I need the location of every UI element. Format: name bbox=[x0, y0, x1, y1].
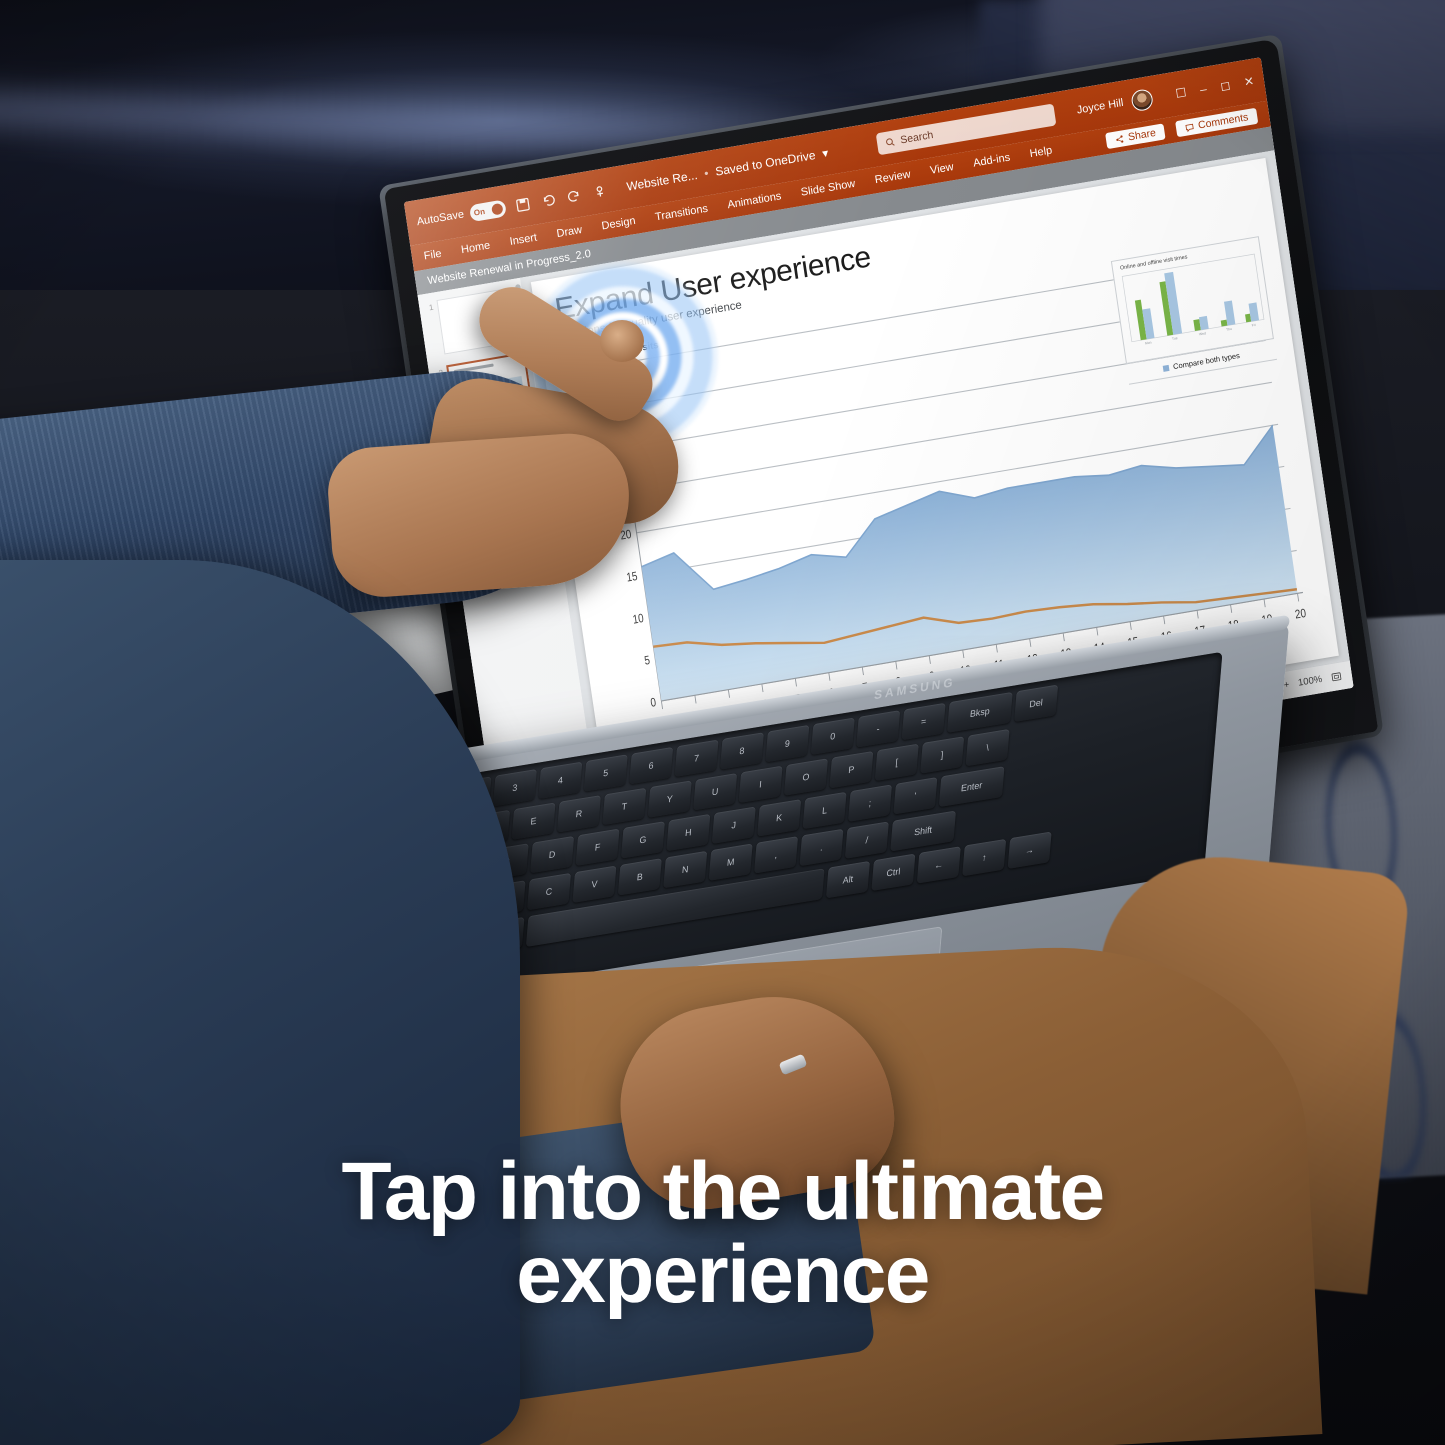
comments-label: Comments bbox=[1197, 111, 1249, 131]
comment-icon bbox=[1185, 122, 1195, 132]
key-shift-right[interactable]: Shift bbox=[890, 810, 956, 851]
key[interactable]: V bbox=[572, 865, 616, 903]
toggle-knob bbox=[491, 202, 503, 215]
legend-swatch bbox=[1163, 364, 1170, 371]
headline-line-1: Tap into the ultimate bbox=[341, 1146, 1103, 1237]
minimize-icon[interactable]: – bbox=[1199, 82, 1208, 97]
user-name: Joyce Hill bbox=[1076, 97, 1124, 117]
key[interactable]: U bbox=[693, 773, 737, 811]
key[interactable]: ] bbox=[920, 736, 964, 774]
present-icon[interactable] bbox=[591, 183, 608, 200]
undo-icon[interactable] bbox=[540, 191, 557, 208]
key[interactable]: . bbox=[799, 829, 843, 867]
key[interactable]: 5 bbox=[584, 754, 628, 792]
autosave-state: On bbox=[473, 206, 486, 217]
key[interactable]: Y bbox=[648, 780, 692, 818]
tab-file[interactable]: File bbox=[423, 248, 442, 263]
share-label: Share bbox=[1127, 127, 1156, 144]
key[interactable]: D bbox=[530, 836, 574, 874]
user-account[interactable]: Joyce Hill bbox=[1075, 88, 1153, 121]
key[interactable]: R bbox=[557, 795, 601, 833]
key-del[interactable]: Del bbox=[1014, 685, 1058, 723]
quick-access-toolbar[interactable] bbox=[514, 183, 608, 213]
key[interactable]: , bbox=[754, 836, 798, 874]
key[interactable]: H bbox=[666, 814, 710, 852]
key[interactable]: K bbox=[757, 799, 801, 837]
fingertip bbox=[600, 320, 644, 362]
autosave-label: AutoSave bbox=[416, 208, 465, 228]
key[interactable]: - bbox=[856, 710, 900, 748]
fit-to-window-icon[interactable] bbox=[1330, 670, 1342, 683]
title-separator: • bbox=[703, 166, 709, 181]
document-name: Website Re... bbox=[626, 168, 699, 194]
save-icon[interactable] bbox=[514, 196, 531, 213]
key[interactable]: \ bbox=[966, 729, 1010, 767]
key[interactable]: J bbox=[712, 806, 756, 844]
zoom-level: 100% bbox=[1297, 674, 1323, 689]
tab-home[interactable]: Home bbox=[460, 239, 491, 256]
key[interactable]: 6 bbox=[629, 747, 673, 785]
svg-text:0: 0 bbox=[650, 696, 657, 710]
key-arrow-updown[interactable]: ↑ bbox=[962, 839, 1006, 877]
key[interactable]: P bbox=[829, 751, 873, 789]
svg-text:20: 20 bbox=[1294, 607, 1307, 622]
key-arrow-left[interactable]: ← bbox=[917, 846, 961, 884]
key[interactable]: 4 bbox=[538, 762, 582, 800]
tab-insert[interactable]: Insert bbox=[509, 232, 538, 248]
avatar[interactable] bbox=[1130, 88, 1154, 112]
key[interactable]: ; bbox=[848, 784, 892, 822]
key[interactable]: N bbox=[663, 851, 707, 889]
key[interactable]: I bbox=[739, 766, 783, 804]
key[interactable]: M bbox=[709, 843, 753, 881]
maximize-icon[interactable]: ◻ bbox=[1219, 78, 1231, 94]
close-icon[interactable]: ✕ bbox=[1243, 74, 1255, 90]
key[interactable]: C bbox=[527, 873, 571, 911]
chevron-down-icon[interactable]: ▾ bbox=[821, 146, 829, 161]
key[interactable]: 8 bbox=[720, 732, 764, 770]
key[interactable]: O bbox=[784, 758, 828, 796]
svg-text:Tue: Tue bbox=[1172, 336, 1178, 341]
window-controls[interactable]: ☐ – ◻ ✕ bbox=[1175, 74, 1255, 101]
key[interactable]: L bbox=[803, 792, 847, 830]
tab-animations[interactable]: Animations bbox=[727, 190, 782, 211]
key[interactable]: G bbox=[621, 821, 665, 859]
key-ctrl-right[interactable]: Ctrl bbox=[871, 854, 915, 892]
autosave-control[interactable]: AutoSave On bbox=[416, 199, 507, 231]
svg-text:10: 10 bbox=[632, 612, 645, 627]
key[interactable]: E bbox=[511, 802, 555, 840]
key[interactable]: / bbox=[845, 821, 889, 859]
key[interactable]: = bbox=[902, 703, 946, 741]
save-status: Saved to OneDrive bbox=[714, 148, 816, 179]
redo-icon[interactable] bbox=[565, 187, 582, 204]
tab-design[interactable]: Design bbox=[601, 215, 637, 233]
svg-text:Mon: Mon bbox=[1145, 340, 1152, 345]
key-backspace[interactable]: Bksp bbox=[947, 692, 1013, 733]
key[interactable]: 0 bbox=[811, 717, 855, 755]
key[interactable]: T bbox=[602, 788, 646, 826]
svg-text:Wed: Wed bbox=[1199, 331, 1207, 336]
svg-text:15: 15 bbox=[626, 570, 639, 585]
tab-help[interactable]: Help bbox=[1029, 144, 1053, 160]
key[interactable]: B bbox=[618, 858, 662, 896]
key-arrow-right[interactable]: → bbox=[1008, 831, 1052, 869]
autosave-toggle[interactable]: On bbox=[469, 199, 507, 222]
svg-text:Fri: Fri bbox=[1251, 323, 1256, 328]
key[interactable]: 9 bbox=[765, 725, 809, 763]
key[interactable]: 3 bbox=[493, 769, 537, 807]
search-placeholder: Search bbox=[900, 129, 935, 146]
key[interactable]: F bbox=[576, 829, 620, 867]
marketing-screenshot: SAMSUNG ~1 23 45 67 89 0- =Bksp Del Tab … bbox=[0, 0, 1445, 1445]
key-alt-right[interactable]: Alt bbox=[826, 861, 870, 899]
tab-add-ins[interactable]: Add-ins bbox=[972, 152, 1011, 170]
svg-text:5: 5 bbox=[644, 654, 651, 668]
key[interactable]: 7 bbox=[675, 740, 719, 778]
restore-icon[interactable]: ☐ bbox=[1175, 85, 1188, 101]
tab-review[interactable]: Review bbox=[874, 168, 911, 186]
tab-view[interactable]: View bbox=[929, 161, 954, 177]
headline-line-2: experience bbox=[0, 1233, 1445, 1317]
tab-slide-show[interactable]: Slide Show bbox=[800, 178, 856, 199]
search-icon bbox=[885, 136, 896, 148]
key[interactable]: [ bbox=[875, 744, 919, 782]
tab-transitions[interactable]: Transitions bbox=[654, 203, 708, 224]
marketing-headline: Tap into the ultimate experience bbox=[0, 1150, 1445, 1317]
share-icon bbox=[1115, 134, 1125, 144]
tab-draw[interactable]: Draw bbox=[556, 224, 583, 240]
thumbnail-number: 1 bbox=[425, 301, 434, 313]
key[interactable]: ' bbox=[893, 777, 937, 815]
svg-text:Thu: Thu bbox=[1226, 327, 1232, 332]
key-enter[interactable]: Enter bbox=[939, 766, 1005, 807]
